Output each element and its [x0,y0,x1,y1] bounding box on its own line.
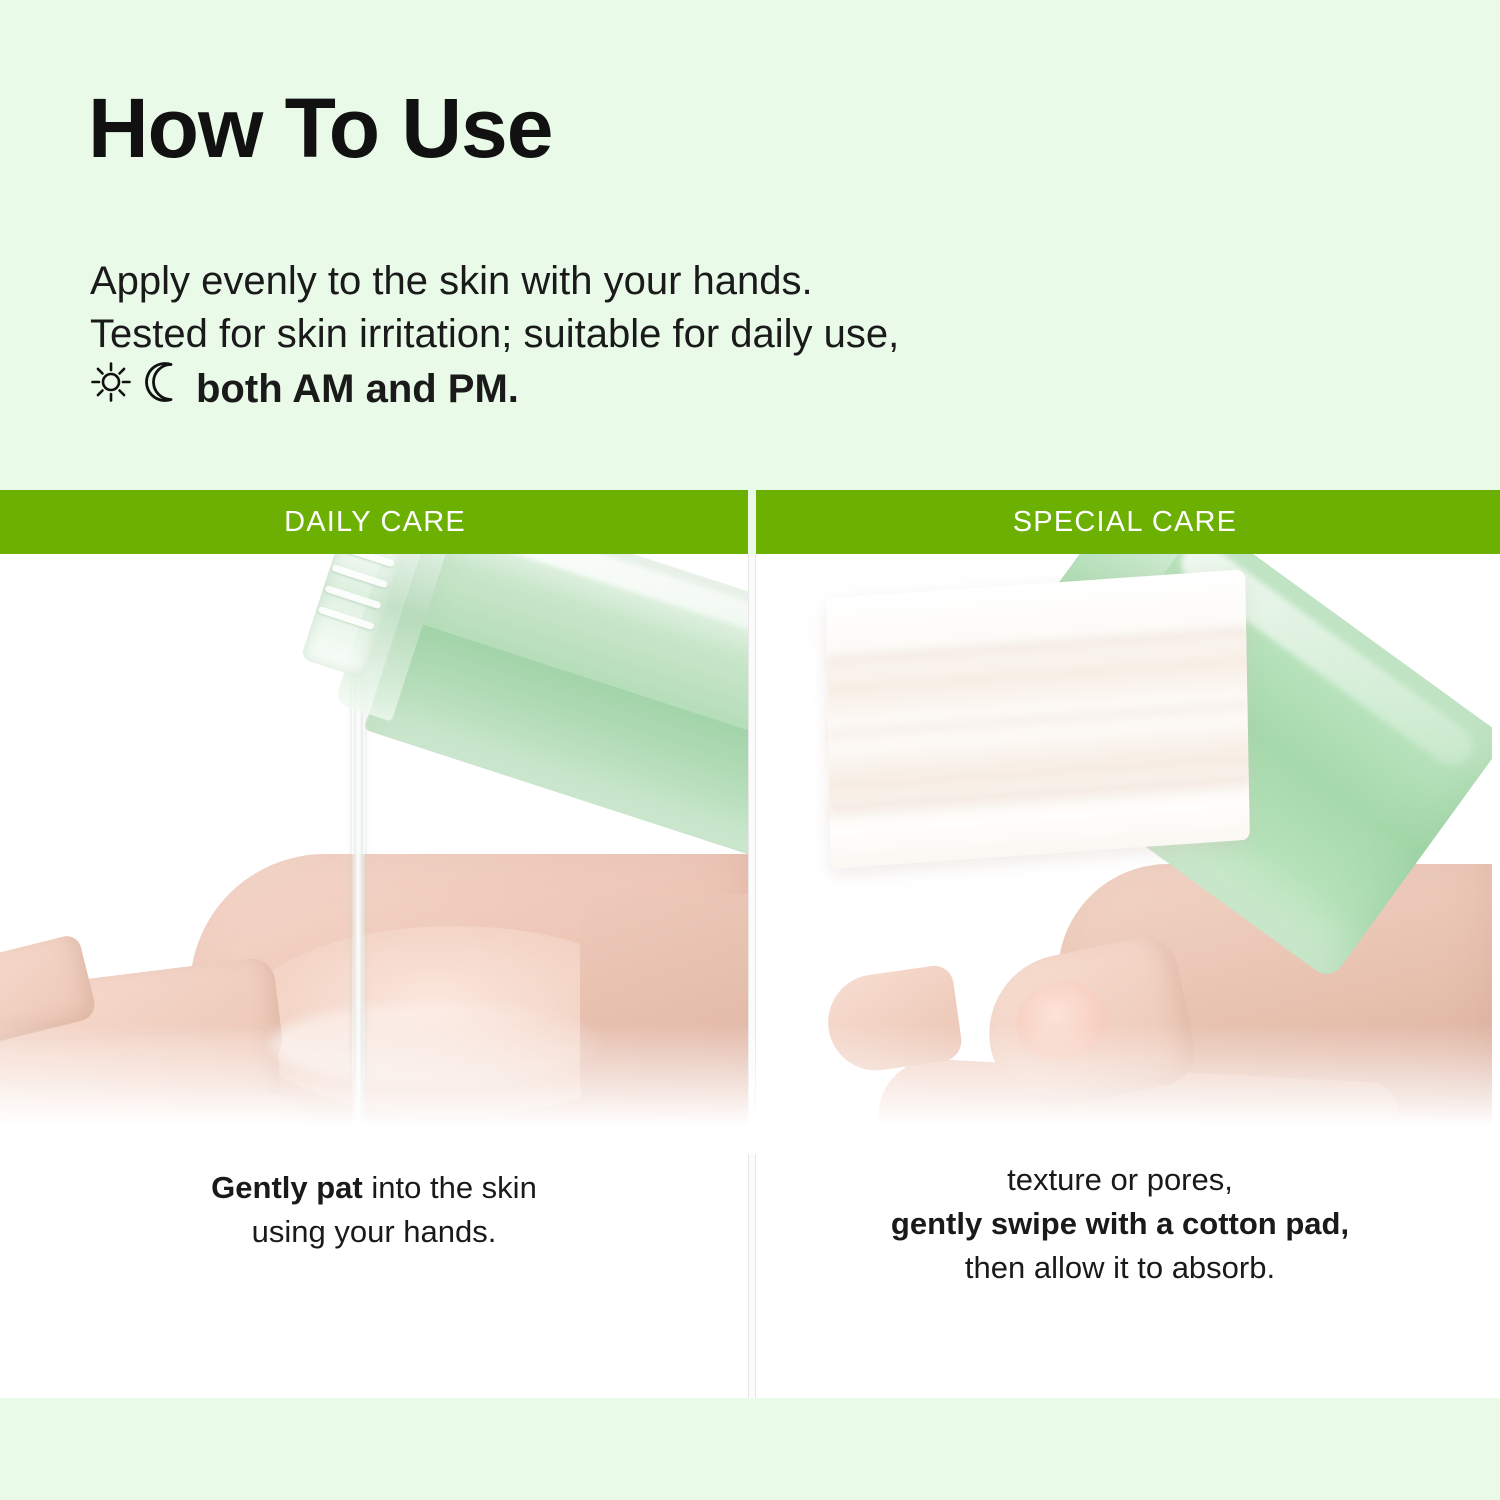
daily-care-photo: Anua 3+ [0,554,748,1154]
intro-line-ampm: both AM and PM. [90,361,1290,417]
cotton-pad [826,569,1250,869]
band-label-daily: DAILY CARE [284,506,466,539]
daily-care-caption-bold: Gently pat [211,1170,363,1205]
special-care-caption-line-4: then allow it to absorb. [748,1246,1492,1290]
intro-line-1: Apply evenly to the skin with your hands… [90,255,1290,308]
band-special-care: SPECIAL CARE [750,490,1500,554]
daily-care-caption: Gently pat into the skin using your hand… [0,1166,748,1254]
band-label-special: SPECIAL CARE [1013,506,1237,539]
daily-care-caption-rest: into the skin [363,1170,537,1205]
ampm-text: both AM and PM. [196,363,519,416]
daily-care-caption-line-2: using your hands. [0,1210,748,1254]
footer-spacer [0,1398,1500,1500]
sun-icon [90,361,132,417]
daily-care-caption-line-1: Gently pat into the skin [0,1166,748,1210]
intro-section: How To Use Apply evenly to the skin with… [0,0,1500,490]
special-care-caption-bold: gently swipe with a cotton pad [891,1206,1341,1241]
daily-care-column: Anua 3+ Gently pat into the skin using y… [0,554,748,1398]
band-daily-care: DAILY CARE [0,490,750,554]
intro-line-2: Tested for skin irritation; suitable for… [90,308,1290,361]
special-care-caption-line-2: texture or pores, [748,1158,1492,1202]
special-care-column: Anua When concerned about texture or por… [748,554,1492,1398]
band-divider [748,490,756,554]
special-care-photo: Anua [748,554,1492,1154]
special-care-caption-bold-tail: , [1340,1206,1349,1241]
column-divider [748,554,756,1398]
page-title: How To Use [88,86,552,170]
intro-paragraph: Apply evenly to the skin with your hands… [90,255,1290,417]
moon-icon [144,361,184,417]
special-care-caption-line-3: gently swipe with a cotton pad, [748,1202,1492,1246]
how-to-use-infographic: How To Use Apply evenly to the skin with… [0,0,1500,1500]
